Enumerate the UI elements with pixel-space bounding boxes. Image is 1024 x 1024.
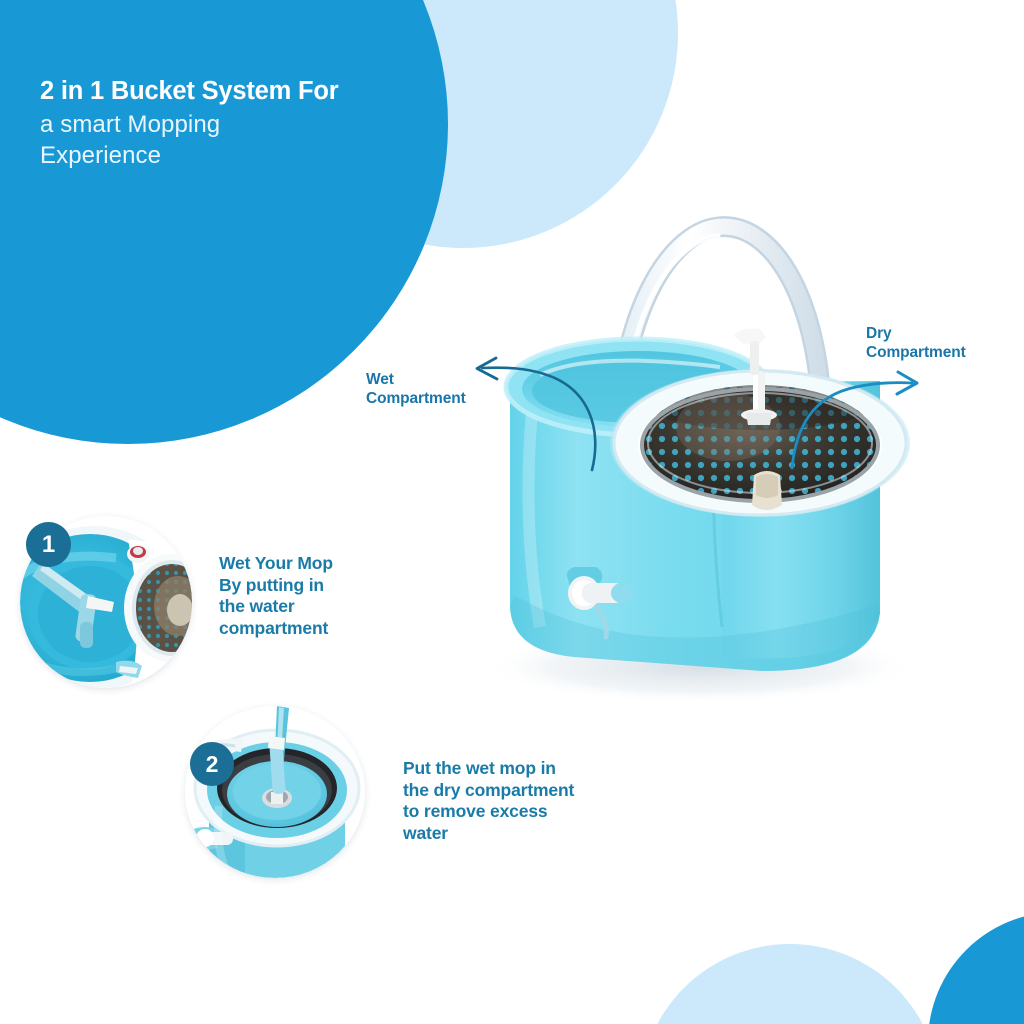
callout-arrow-wet-compartment [450, 352, 630, 472]
callout-label-dry-compartment: Dry Compartment [866, 324, 966, 362]
step-2-line-2: the dry compartment [403, 780, 638, 802]
page-title-line2: a smart Mopping [40, 110, 460, 141]
page-title-line3: Experience [40, 141, 460, 172]
decorative-circle-dark-bottom [928, 912, 1024, 1024]
step-2-line-3: to remove excess [403, 801, 638, 823]
callout-arrow-dry-compartment [752, 362, 934, 470]
step-1-text: Wet Your Mop By putting in the water com… [219, 553, 409, 639]
infographic-canvas: 2 in 1 Bucket System For a smart Mopping… [0, 0, 1024, 1024]
callout-dry-line1: Dry [866, 324, 966, 343]
callout-dry-line2: Compartment [866, 343, 966, 362]
page-title-line1: 2 in 1 Bucket System For [40, 76, 460, 106]
step-2-photo [185, 706, 365, 878]
header-block: 2 in 1 Bucket System For a smart Mopping… [40, 76, 460, 171]
step-1-line-3: the water [219, 596, 409, 618]
step-2-line-4: water [403, 823, 638, 845]
step-1-badge: 1 [26, 522, 71, 567]
step-1-line-2: By putting in [219, 575, 409, 597]
step-2-text: Put the wet mop in the dry compartment t… [403, 758, 638, 844]
step-1-line-1: Wet Your Mop [219, 553, 409, 575]
step-2-badge: 2 [190, 742, 234, 786]
decorative-circle-light-bottom [640, 944, 940, 1024]
step-1-line-4: compartment [219, 618, 409, 640]
step-2-line-1: Put the wet mop in [403, 758, 638, 780]
